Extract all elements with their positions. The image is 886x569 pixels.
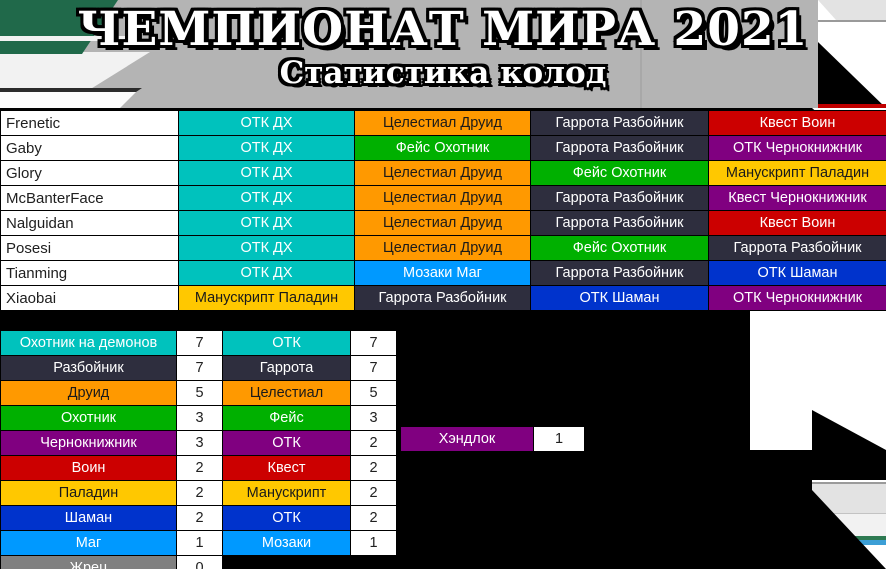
extra-archetype-label: Хэндлок [401, 427, 534, 452]
table-row: Охотник на демонов7ОТК7 [1, 331, 397, 356]
deck-cell: Целестиал Друид [355, 186, 531, 211]
deck-cell: ОТК ДХ [179, 211, 355, 236]
deck-cell: ОТК Чернокнижник [709, 136, 886, 161]
player-decks-body: FreneticОТК ДХЦелестиал ДруидГаррота Раз… [1, 111, 886, 311]
archetype-count-cell: 1 [351, 531, 397, 556]
archetype-count-cell: 2 [351, 506, 397, 531]
table-row: NalguidanОТК ДХЦелестиал ДруидГаррота Ра… [1, 211, 886, 236]
table-row: TianmingОТК ДХМозаки МагГаррота Разбойни… [1, 261, 886, 286]
deck-cell: ОТК Шаман [709, 261, 886, 286]
class-statistics-table: Охотник на демонов7ОТК7Разбойник7Гаррота… [0, 330, 397, 569]
deck-cell: Целестиал Друид [355, 161, 531, 186]
player-name-cell: Frenetic [1, 111, 179, 136]
deck-cell: ОТК ДХ [179, 161, 355, 186]
class-count-cell: 1 [177, 531, 223, 556]
table-row: Разбойник7Гаррота7 [1, 356, 397, 381]
table-row: PosesiОТК ДХЦелестиал ДруидФейс ОхотникГ… [1, 236, 886, 261]
class-count-cell: 2 [177, 456, 223, 481]
class-name-cell: Воин [1, 456, 177, 481]
class-count-cell: 5 [177, 381, 223, 406]
archetype-count-cell: 5 [351, 381, 397, 406]
archetype-name-cell: ОТК [223, 331, 351, 356]
player-name-cell: Nalguidan [1, 211, 179, 236]
deck-cell: Целестиал Друид [355, 211, 531, 236]
table-row: Жрец0 [1, 556, 397, 569]
class-name-cell: Охотник на демонов [1, 331, 177, 356]
archetype-name-cell: Целестиал [223, 381, 351, 406]
archetype-name-cell: Гаррота [223, 356, 351, 381]
archetype-count-cell: 7 [351, 331, 397, 356]
deck-cell: Фейс Охотник [531, 236, 709, 261]
deck-cell: Фейс Охотник [531, 161, 709, 186]
deck-cell: ОТК ДХ [179, 111, 355, 136]
deck-cell: ОТК Шаман [531, 286, 709, 311]
deck-cell: Целестиал Друид [355, 236, 531, 261]
deck-cell: Гаррота Разбойник [531, 211, 709, 236]
deck-cell: ОТК ДХ [179, 236, 355, 261]
deck-cell: Целестиал Друид [355, 111, 531, 136]
table-row: GloryОТК ДХЦелестиал ДруидФейс ОхотникМа… [1, 161, 886, 186]
archetype-name-cell: Манускрипт [223, 481, 351, 506]
player-name-cell: Posesi [1, 236, 179, 261]
deck-cell: ОТК ДХ [179, 186, 355, 211]
class-name-cell: Разбойник [1, 356, 177, 381]
deck-cell: Фейс Охотник [355, 136, 531, 161]
player-name-cell: Xiaobai [1, 286, 179, 311]
class-name-cell: Чернокнижник [1, 431, 177, 456]
archetype-count-cell: 2 [351, 456, 397, 481]
deck-cell: Квест Воин [709, 211, 886, 236]
header-right-gray-line [818, 20, 886, 22]
deck-cell: Гаррота Разбойник [531, 186, 709, 211]
header-left-green-wedge [0, 0, 160, 54]
deck-cell: Гаррота Разбойник [531, 136, 709, 161]
archetype-count-cell: 2 [351, 481, 397, 506]
empty-cell [223, 556, 397, 569]
archetype-name-cell: Фейс [223, 406, 351, 431]
extra-archetype-count: 1 [534, 427, 585, 452]
table-row: Воин2Квест2 [1, 456, 397, 481]
class-count-cell: 3 [177, 431, 223, 456]
table-row: Охотник3Фейс3 [1, 406, 397, 431]
deck-cell: ОТК ДХ [179, 136, 355, 161]
class-name-cell: Паладин [1, 481, 177, 506]
class-name-cell: Друид [1, 381, 177, 406]
class-name-cell: Шаман [1, 506, 177, 531]
table-row: FreneticОТК ДХЦелестиал ДруидГаррота Раз… [1, 111, 886, 136]
class-count-cell: 2 [177, 481, 223, 506]
archetype-name-cell: ОТК [223, 506, 351, 531]
deck-cell: Квест Чернокнижник [709, 186, 886, 211]
deck-cell: ОТК ДХ [179, 261, 355, 286]
archetype-name-cell: Квест [223, 456, 351, 481]
corner-layer-gray-line [812, 482, 886, 484]
table-row: Шаман2ОТК2 [1, 506, 397, 531]
table-row: Паладин2Манускрипт2 [1, 481, 397, 506]
class-count-cell: 2 [177, 506, 223, 531]
archetype-name-cell: Мозаки [223, 531, 351, 556]
archetype-count-cell: 3 [351, 406, 397, 431]
class-count-cell: 7 [177, 331, 223, 356]
deck-cell: Манускрипт Паладин [179, 286, 355, 311]
deck-cell: Гаррота Разбойник [531, 111, 709, 136]
table-row: Маг1Мозаки1 [1, 531, 397, 556]
archetype-name-cell: ОТК [223, 431, 351, 456]
player-name-cell: Gaby [1, 136, 179, 161]
header-banner: ЧЕМПИОНАТ МИРА 2021 Статистика колод [0, 0, 886, 108]
table-row: McBanterFaceОТК ДХЦелестиал ДруидГаррота… [1, 186, 886, 211]
header-gray-band [178, 0, 886, 108]
class-count-cell: 3 [177, 406, 223, 431]
bottom-right-corner-graphic [812, 480, 886, 569]
player-name-cell: McBanterFace [1, 186, 179, 211]
deck-cell: Гаррота Разбойник [355, 286, 531, 311]
class-name-cell: Охотник [1, 406, 177, 431]
class-name-cell: Жрец [1, 556, 177, 569]
class-name-cell: Маг [1, 531, 177, 556]
deck-cell: Мозаки Маг [355, 261, 531, 286]
header-left-green-divider [0, 36, 160, 41]
table-row: Друид5Целестиал5 [1, 381, 397, 406]
player-decks-table: FreneticОТК ДХЦелестиал ДруидГаррота Раз… [0, 110, 886, 311]
player-name-cell: Tianming [1, 261, 179, 286]
deck-cell: Манускрипт Паладин [709, 161, 886, 186]
player-name-cell: Glory [1, 161, 179, 186]
screenshot-root: ЧЕМПИОНАТ МИРА 2021 Статистика колод [0, 0, 886, 569]
archetype-count-cell: 7 [351, 356, 397, 381]
class-count-cell: 7 [177, 356, 223, 381]
class-count-cell: 0 [177, 556, 223, 569]
extra-archetype-row: Хэндлок 1 [400, 426, 585, 452]
archetype-count-cell: 2 [351, 431, 397, 456]
class-statistics-body: Охотник на демонов7ОТК7Разбойник7Гаррота… [1, 331, 397, 569]
deck-cell: Гаррота Разбойник [531, 261, 709, 286]
deck-cell: Гаррота Разбойник [709, 236, 886, 261]
table-row: Хэндлок 1 [401, 427, 585, 452]
table-row: GabyОТК ДХФейс ОхотникГаррота РазбойникО… [1, 136, 886, 161]
table-row: Чернокнижник3ОТК2 [1, 431, 397, 456]
deck-cell: ОТК Чернокнижник [709, 286, 886, 311]
deck-cell: Квест Воин [709, 111, 886, 136]
table-row: XiaobaiМанускрипт ПаладинГаррота Разбойн… [1, 286, 886, 311]
header-band-seam [640, 0, 642, 108]
